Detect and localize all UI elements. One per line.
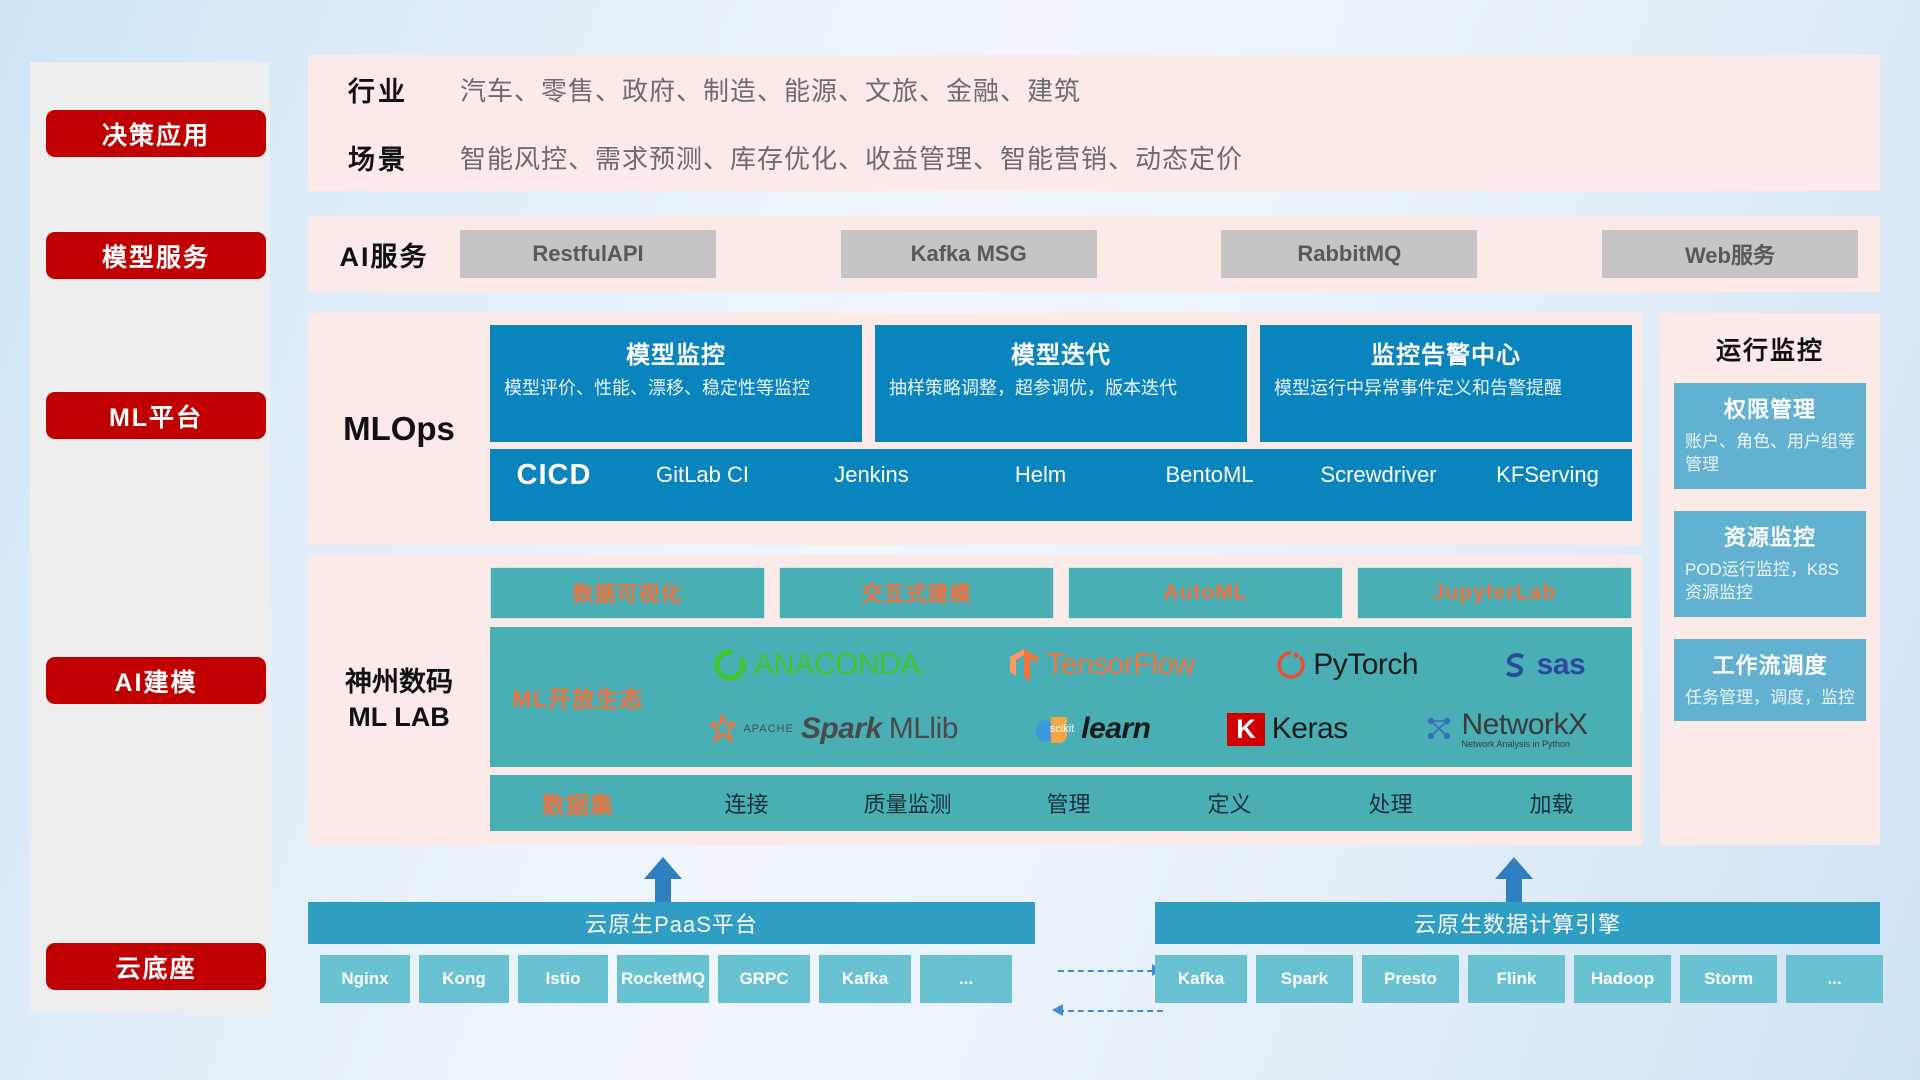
logo-tensorflow: TensorFlow [1009, 648, 1194, 682]
service-chip-restfulapi[interactable]: RestfulAPI [460, 230, 716, 278]
card-desc: 账户、角色、用户组等管理 [1685, 430, 1855, 477]
rail-label: ML平台 [109, 398, 203, 434]
data-chip-kafka[interactable]: Kafka [1155, 955, 1247, 1003]
data-engine-bar[interactable]: 云原生数据计算引擎 [1155, 902, 1880, 944]
logo-label: learn [1081, 712, 1150, 746]
logo-row-2: APACHE Spark MLlib scikit learn [672, 699, 1626, 759]
card-desc: 模型评价、性能、漂移、稳定性等监控 [504, 376, 848, 401]
data-chip-spark[interactable]: Spark [1256, 955, 1353, 1003]
tab-data-visualization[interactable]: 数据可视化 [490, 567, 765, 619]
cicd-item-gitlab-ci[interactable]: GitLab CI [618, 459, 787, 491]
dataset-item-list: 连接 质量监测 管理 定义 处理 加载 [666, 787, 1632, 819]
dataset-item-process[interactable]: 处理 [1310, 787, 1471, 819]
arrow-up-data-icon [1495, 857, 1533, 879]
ai-service-label: AI服务 [308, 235, 460, 274]
ml-ecosystem-label: ML开放生态 [490, 680, 666, 714]
card-title: 权限管理 [1685, 392, 1855, 424]
ml-ecosystem-logos: ANACONDA. TensorFlow [666, 627, 1632, 767]
cicd-item-screwdriver[interactable]: Screwdriver [1294, 459, 1463, 491]
tab-jupyterlab[interactable]: JupyterLab [1357, 567, 1632, 619]
layer-rail [30, 62, 270, 1012]
rail-item-model-service[interactable]: 模型服务 [46, 232, 266, 279]
card-desc: 模型运行中异常事件定义和告警提醒 [1274, 376, 1618, 401]
dataset-item-connect[interactable]: 连接 [666, 787, 827, 819]
mlops-card-model-monitoring[interactable]: 模型监控 模型评价、性能、漂移、稳定性等监控 [490, 325, 862, 442]
spark-apache-label: APACHE [743, 723, 793, 735]
industry-value: 汽车、零售、政府、制造、能源、文旅、金融、建筑 [460, 71, 1081, 108]
dataset-item-load[interactable]: 加载 [1471, 787, 1632, 819]
logo-label: PyTorch [1313, 648, 1418, 682]
data-chip-list: Kafka Spark Presto Flink Hadoop Storm ..… [1155, 955, 1883, 1003]
data-chip-presto[interactable]: Presto [1362, 955, 1459, 1003]
logo-networkx: NetworkX Network Analysis in Python [1425, 710, 1588, 749]
logo-sas: sas [1500, 648, 1586, 682]
mlops-panel: MLOps 模型监控 模型评价、性能、漂移、稳定性等监控 模型迭代 抽样策略调整… [308, 313, 1642, 545]
logo-label: MLlib [889, 712, 958, 746]
scikit-label: scikit [1050, 723, 1074, 735]
ai-service-chip-list: RestfulAPI Kafka MSG RabbitMQ Web服务 [460, 230, 1880, 278]
dataset-item-manage[interactable]: 管理 [988, 787, 1149, 819]
mlops-card-alert-center[interactable]: 监控告警中心 模型运行中异常事件定义和告警提醒 [1260, 325, 1632, 442]
paas-chip-istio[interactable]: Istio [518, 955, 608, 1003]
logo-pytorch: PyTorch [1276, 648, 1418, 682]
service-chip-kafka-msg[interactable]: Kafka MSG [841, 230, 1097, 278]
dataset-item-quality[interactable]: 质量监测 [827, 787, 988, 819]
dashed-connector-top [1058, 970, 1163, 972]
tab-automl[interactable]: AutoML [1068, 567, 1343, 619]
industry-row: 行业 汽车、零售、政府、制造、能源、文旅、金融、建筑 [308, 55, 1880, 123]
data-chip-flink[interactable]: Flink [1468, 955, 1565, 1003]
arrow-stem-data [1506, 877, 1522, 903]
service-chip-rabbitmq[interactable]: RabbitMQ [1221, 230, 1477, 278]
tensorflow-icon [1009, 648, 1039, 682]
decision-apps-panel: 行业 汽车、零售、政府、制造、能源、文旅、金融、建筑 场景 智能风控、需求预测、… [308, 55, 1880, 191]
cicd-item-kfserving[interactable]: KFServing [1463, 459, 1632, 491]
pytorch-icon [1276, 648, 1306, 682]
rail-label: 决策应用 [102, 116, 210, 152]
arrow-up-paas-icon [644, 857, 682, 879]
dashed-arrow-left-icon [1052, 1004, 1063, 1016]
monitor-card-permissions[interactable]: 权限管理 账户、角色、用户组等管理 [1674, 383, 1866, 489]
logo-label: NetworkX [1462, 710, 1588, 740]
mlops-body: 模型监控 模型评价、性能、漂移、稳定性等监控 模型迭代 抽样策略调整，超参调优，… [490, 313, 1642, 545]
spark-label: Spark [801, 712, 882, 746]
card-desc: POD运行监控，K8S资源监控 [1685, 558, 1855, 605]
cicd-item-list: GitLab CI Jenkins Helm BentoML Screwdriv… [618, 459, 1632, 491]
networkx-icon [1425, 714, 1455, 744]
service-chip-web[interactable]: Web服务 [1602, 230, 1858, 278]
mlops-label: MLOps [308, 313, 490, 545]
logo-scikit-learn: scikit learn [1035, 712, 1151, 746]
runtime-monitoring-panel: 运行监控 权限管理 账户、角色、用户组等管理 资源监控 POD运行监控，K8S资… [1660, 313, 1880, 845]
dashed-connector-bottom [1058, 1010, 1163, 1012]
paas-chip-rocketmq[interactable]: RocketMQ [617, 955, 709, 1003]
card-title: 资源监控 [1685, 520, 1855, 552]
cicd-bar: CICD GitLab CI Jenkins Helm BentoML Scre… [490, 449, 1632, 521]
ml-lab-body: 数据可视化 交互式建模 AutoML JupyterLab ML开放生态 ANA… [490, 555, 1642, 845]
scenario-row: 场景 智能风控、需求预测、库存优化、收益管理、智能营销、动态定价 [308, 123, 1880, 191]
logo-label: TensorFlow [1046, 648, 1194, 682]
cicd-item-jenkins[interactable]: Jenkins [787, 459, 956, 491]
sas-icon [1500, 650, 1530, 680]
cicd-title: CICD [490, 459, 618, 492]
scenario-key: 场景 [348, 138, 460, 177]
logo-label: sas [1537, 648, 1586, 682]
logo-label: Keras [1272, 712, 1348, 746]
dataset-band: 数据集 连接 质量监测 管理 定义 处理 加载 [490, 775, 1632, 831]
data-chip-hadoop[interactable]: Hadoop [1574, 955, 1671, 1003]
scenario-value: 智能风控、需求预测、库存优化、收益管理、智能营销、动态定价 [460, 139, 1243, 176]
rail-item-decision-apps[interactable]: 决策应用 [46, 110, 266, 157]
networkx-subtitle: Network Analysis in Python [1462, 740, 1588, 749]
spark-star-icon [710, 714, 736, 744]
rail-label: 云底座 [115, 949, 196, 985]
paas-platform-bar[interactable]: 云原生PaaS平台 [308, 902, 1035, 944]
ml-lab-tab-list: 数据可视化 交互式建模 AutoML JupyterLab [490, 567, 1632, 619]
ml-lab-title-line2: ML LAB [348, 701, 450, 734]
paas-chip-kafka[interactable]: Kafka [819, 955, 911, 1003]
paas-chip-kong[interactable]: Kong [419, 955, 509, 1003]
ai-service-panel: AI服务 RestfulAPI Kafka MSG RabbitMQ Web服务 [308, 216, 1880, 292]
card-title: 监控告警中心 [1274, 335, 1618, 370]
arrow-stem-paas [655, 877, 671, 903]
cicd-item-helm[interactable]: Helm [956, 459, 1125, 491]
monitor-card-workflow[interactable]: 工作流调度 任务管理，调度，监控 [1674, 639, 1866, 721]
mlops-card-model-iteration[interactable]: 模型迭代 抽样策略调整，超参调优，版本迭代 [875, 325, 1247, 442]
logo-label: ANACONDA. [754, 648, 928, 682]
data-chip-storm[interactable]: Storm [1680, 955, 1777, 1003]
dataset-item-define[interactable]: 定义 [1149, 787, 1310, 819]
logo-keras: K Keras [1227, 712, 1347, 746]
monitor-title: 运行监控 [1674, 331, 1866, 367]
card-desc: 抽样策略调整，超参调优，版本迭代 [889, 376, 1233, 401]
logo-spark-mllib: APACHE Spark MLlib [710, 712, 958, 746]
rail-label: 模型服务 [102, 238, 210, 274]
ml-ecosystem-band: ML开放生态 ANACONDA. [490, 627, 1632, 767]
ml-lab-title-line1: 神州数码 [345, 666, 453, 699]
rail-item-cloud-base[interactable]: 云底座 [46, 943, 266, 990]
mlops-card-list: 模型监控 模型评价、性能、漂移、稳定性等监控 模型迭代 抽样策略调整，超参调优，… [490, 325, 1632, 442]
paas-chip-grpc[interactable]: GRPC [718, 955, 810, 1003]
card-desc: 任务管理，调度，监控 [1685, 686, 1855, 709]
monitor-card-resources[interactable]: 资源监控 POD运行监控，K8S资源监控 [1674, 511, 1866, 617]
paas-chip-nginx[interactable]: Nginx [320, 955, 410, 1003]
logo-row-1: ANACONDA. TensorFlow [672, 635, 1626, 695]
anaconda-icon [713, 648, 747, 682]
industry-key: 行业 [348, 70, 460, 109]
tab-interactive-modeling[interactable]: 交互式建模 [779, 567, 1054, 619]
card-title: 模型监控 [504, 335, 848, 370]
paas-chip-more[interactable]: ... [920, 955, 1012, 1003]
card-title: 模型迭代 [889, 335, 1233, 370]
data-chip-more[interactable]: ... [1786, 955, 1883, 1003]
keras-icon: K [1227, 713, 1265, 746]
rail-item-ai-modeling[interactable]: AI建模 [46, 657, 266, 704]
dataset-label: 数据集 [490, 786, 666, 820]
rail-item-ml-platform[interactable]: ML平台 [46, 392, 266, 439]
paas-chip-list: Nginx Kong Istio RocketMQ GRPC Kafka ... [320, 955, 1012, 1003]
card-title: 工作流调度 [1685, 648, 1855, 680]
rail-label: AI建模 [114, 663, 197, 699]
ml-lab-title: 神州数码 ML LAB [308, 555, 490, 845]
cicd-item-bentoml[interactable]: BentoML [1125, 459, 1294, 491]
logo-anaconda: ANACONDA. [713, 648, 928, 682]
architecture-diagram: 决策应用 模型服务 ML平台 AI建模 云底座 行业 汽车、零售、政府、制造、能… [0, 0, 1920, 1080]
ml-lab-panel: 神州数码 ML LAB 数据可视化 交互式建模 AutoML JupyterLa… [308, 555, 1642, 845]
